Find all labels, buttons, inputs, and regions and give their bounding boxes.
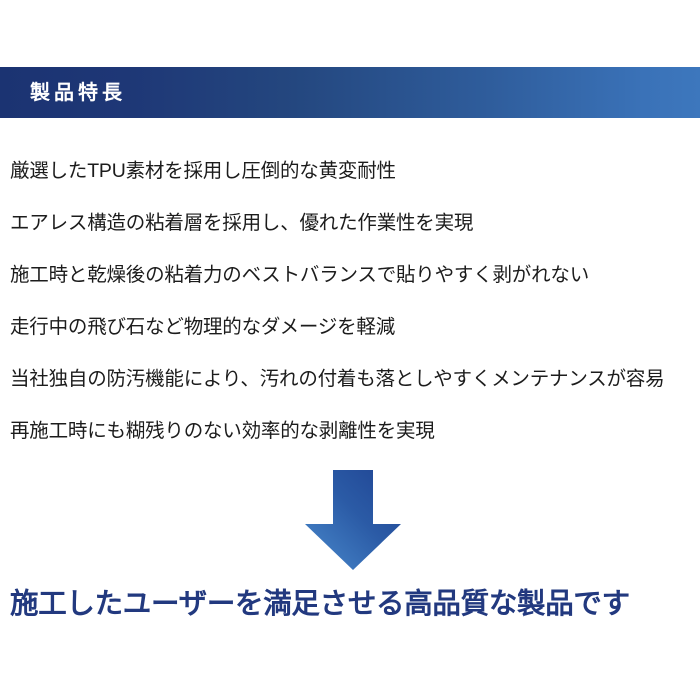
- feature-item: エアレス構造の粘着層を採用し、優れた作業性を実現: [10, 197, 700, 249]
- feature-item: 厳選したTPU素材を採用し圧倒的な黄変耐性: [10, 145, 700, 197]
- arrow-down-icon: [303, 468, 403, 572]
- section-header-bar: 製品特長: [0, 67, 700, 118]
- conclusion-text: 施工したユーザーを満足させる高品質な製品です: [10, 580, 700, 628]
- product-features-panel: 製品特長 厳選したTPU素材を採用し圧倒的な黄変耐性 エアレス構造の粘着層を採用…: [0, 0, 700, 700]
- feature-item: 走行中の飛び石など物理的なダメージを軽減: [10, 301, 700, 353]
- feature-item: 施工時と乾燥後の粘着力のベストバランスで貼りやすく剥がれない: [10, 249, 700, 301]
- feature-item: 当社独自の防汚機能により、汚れの付着も落としやすくメンテナンスが容易: [10, 353, 700, 405]
- section-header-title: 製品特長: [30, 83, 126, 103]
- feature-list: 厳選したTPU素材を採用し圧倒的な黄変耐性 エアレス構造の粘着層を採用し、優れた…: [10, 145, 700, 457]
- feature-item: 再施工時にも糊残りのない効率的な剥離性を実現: [10, 405, 700, 457]
